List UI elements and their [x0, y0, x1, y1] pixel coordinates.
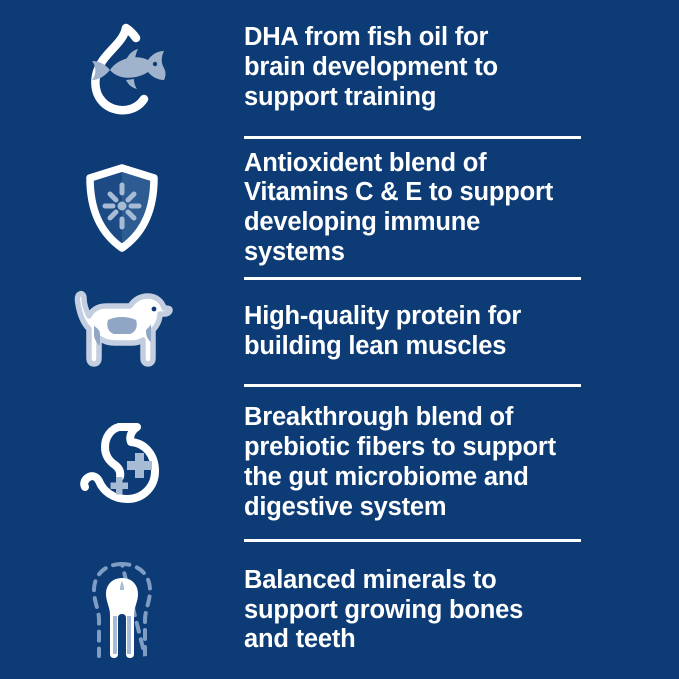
feature-item-prebiotic: Breakthrough blend of prebiotic fibers t…: [0, 387, 679, 539]
icon-cell-protein: [0, 286, 244, 378]
icon-cell-prebiotic: [0, 417, 244, 509]
icon-cell-dha: [0, 18, 244, 118]
digestive-stomach-icon: [75, 417, 169, 509]
feature-item-protein: High-quality protein for building lean m…: [0, 280, 679, 383]
bone-tooth-icon: [82, 558, 162, 662]
feature-text-antioxidant: Antioxident blend of Vitamins C & E to s…: [244, 149, 584, 268]
antioxidant-shield-icon: [79, 160, 165, 256]
feature-text-dha: DHA from fish oil for brain development …: [244, 23, 584, 112]
text-cell-protein: High-quality protein for building lean m…: [244, 302, 679, 362]
feature-list: DHA from fish oil for brain development …: [0, 0, 679, 679]
fish-oil-droplet-icon: [74, 18, 170, 118]
text-cell-prebiotic: Breakthrough blend of prebiotic fibers t…: [244, 403, 679, 522]
feature-text-prebiotic: Breakthrough blend of prebiotic fibers t…: [244, 403, 584, 522]
feature-item-minerals: Balanced minerals to support growing bon…: [0, 542, 679, 679]
feature-text-minerals: Balanced minerals to support growing bon…: [244, 566, 584, 655]
icon-cell-minerals: [0, 558, 244, 662]
icon-cell-antioxidant: [0, 160, 244, 256]
feature-item-antioxidant: Antioxident blend of Vitamins C & E to s…: [0, 139, 679, 277]
lean-muscle-dog-icon: [70, 286, 174, 378]
text-cell-dha: DHA from fish oil for brain development …: [244, 23, 679, 112]
feature-text-protein: High-quality protein for building lean m…: [244, 302, 584, 362]
text-cell-antioxidant: Antioxident blend of Vitamins C & E to s…: [244, 149, 679, 268]
feature-item-dha: DHA from fish oil for brain development …: [0, 0, 679, 136]
text-cell-minerals: Balanced minerals to support growing bon…: [244, 566, 679, 655]
puppy-benefits-panel: DHA from fish oil for brain development …: [0, 0, 679, 679]
